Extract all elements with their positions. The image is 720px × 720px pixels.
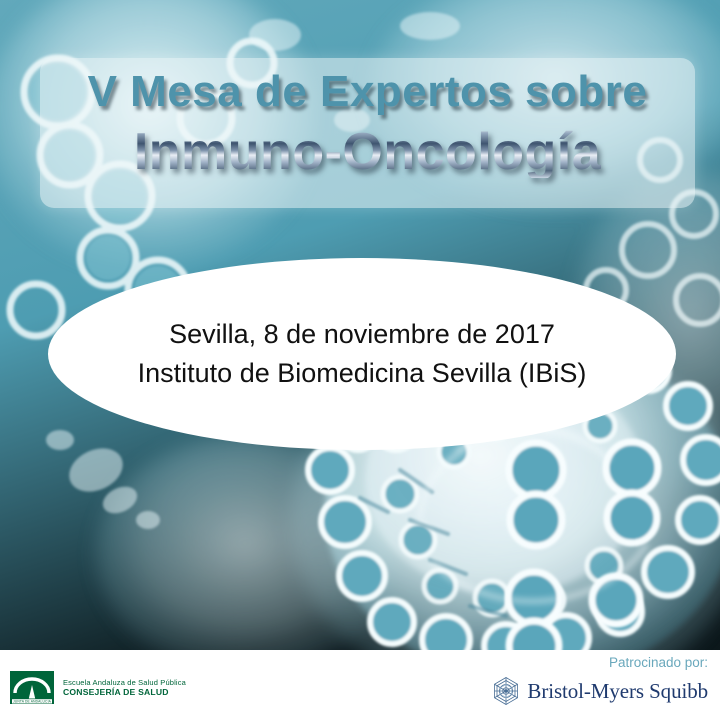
event-date: Sevilla, 8 de noviembre de 2017 — [169, 315, 555, 354]
organizer-name: Escuela Andaluza de Salud Pública — [63, 678, 186, 687]
svg-text:JUNTA DE ANDALUCIA: JUNTA DE ANDALUCIA — [13, 700, 52, 704]
junta-arc-glyph: JUNTA DE ANDALUCIA — [10, 671, 54, 704]
sponsor-label: Patrocinado por: — [491, 655, 708, 670]
junta-de-andalucia-logo-icon: JUNTA DE ANDALUCIA — [10, 671, 54, 704]
poster-canvas: V Mesa de Expertos sobre Inmuno-Oncologí… — [0, 0, 720, 720]
organizer-department: CONSEJERÍA DE SALUD — [63, 687, 186, 697]
title-panel: V Mesa de Expertos sobre Inmuno-Oncologí… — [40, 58, 695, 208]
poster-title-line-2: Inmuno-Oncología — [40, 126, 695, 178]
footer-bar: JUNTA DE ANDALUCIA Escuela Andaluza de S… — [0, 650, 720, 720]
organizer-text: Escuela Andaluza de Salud Pública CONSEJ… — [63, 678, 186, 698]
bristol-myers-squibb-logo-icon — [491, 676, 521, 706]
venue-oval: Sevilla, 8 de noviembre de 2017 Institut… — [48, 258, 676, 450]
poster-title-line-1: V Mesa de Expertos sobre — [40, 70, 695, 114]
event-venue: Instituto de Biomedicina Sevilla (IBiS) — [138, 354, 587, 393]
sponsor-name: Bristol-Myers Squibb — [527, 679, 708, 704]
sponsor-block: Patrocinado por: — [491, 655, 708, 706]
bms-mandala-glyph — [491, 676, 521, 706]
organizer-logo-block: JUNTA DE ANDALUCIA Escuela Andaluza de S… — [10, 671, 186, 704]
sponsor-logo-row: Bristol-Myers Squibb — [491, 676, 708, 706]
